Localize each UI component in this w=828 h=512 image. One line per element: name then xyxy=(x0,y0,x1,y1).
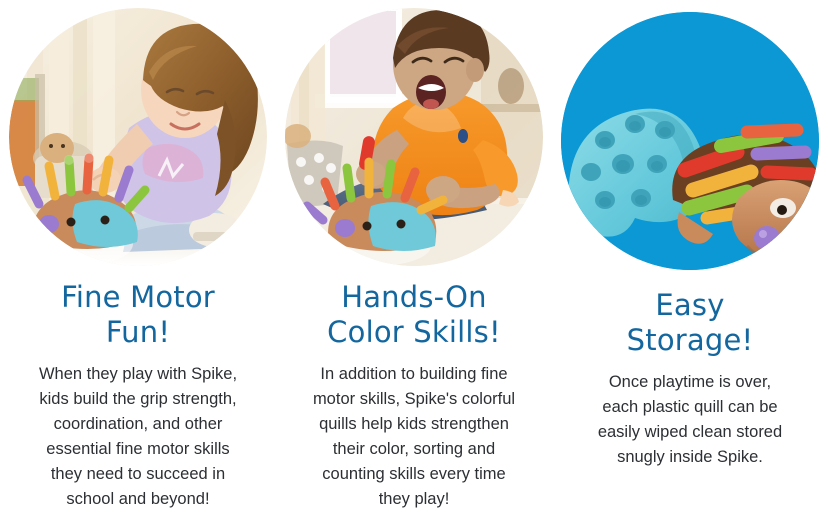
spike-hedgehog-storage-product-photo xyxy=(561,12,819,270)
girl-playing-with-spike-hedgehog-photo xyxy=(9,8,267,266)
panel-1-media xyxy=(0,0,276,274)
feature-panels-board: Fine Motor Fun! When they play with Spik… xyxy=(0,0,828,512)
panel-1-body-text: When they play with Spike, kids build th… xyxy=(13,362,263,512)
panel-2-headline: Hands-On Color Skills! xyxy=(319,280,509,350)
panel-3-media xyxy=(552,0,828,282)
feature-panel-easy-storage: Easy Storage! Once playtime is over, eac… xyxy=(552,0,828,512)
feature-panel-fine-motor-fun: Fine Motor Fun! When they play with Spik… xyxy=(0,0,276,512)
panel-3-body-text: Once playtime is over, each plastic quil… xyxy=(574,370,806,470)
panel-2-media xyxy=(276,0,552,274)
panel-1-headline: Fine Motor Fun! xyxy=(53,280,223,350)
panel-3-headline: Easy Storage! xyxy=(619,288,762,358)
boy-playing-with-spike-hedgehog-photo xyxy=(285,8,543,266)
panel-2-body-text: In addition to building fine motor skill… xyxy=(295,362,533,512)
feature-panel-hands-on-color-skills: Hands-On Color Skills! In addition to bu… xyxy=(276,0,552,512)
